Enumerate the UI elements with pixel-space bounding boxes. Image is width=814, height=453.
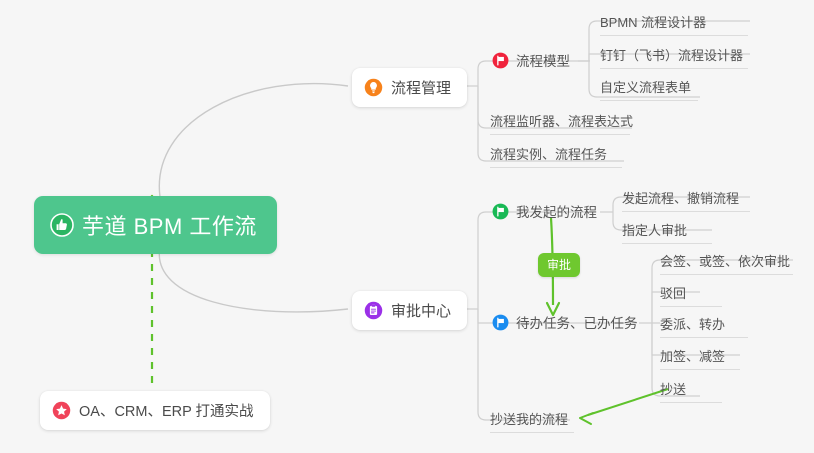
flag-blue-icon <box>492 314 509 331</box>
clipboard-icon <box>364 301 383 320</box>
leaf-process-listener[interactable]: 流程监听器、流程表达式 <box>490 111 630 135</box>
flag-red-icon <box>492 52 509 69</box>
root-node[interactable]: 芋道 BPM 工作流 <box>34 196 277 254</box>
note-label: OA、CRM、ERP 打通实战 <box>79 400 254 421</box>
leaf-add-remove-sign[interactable]: 加签、减签 <box>660 346 740 370</box>
sub-label-process-model: 流程模型 <box>516 50 570 70</box>
leaf-delegate-transfer[interactable]: 委派、转办 <box>660 314 748 338</box>
mindmap-canvas: 芋道 BPM 工作流 OA、CRM、ERP 打通实战 流程管理 <box>0 0 814 453</box>
lightbulb-icon <box>364 78 383 97</box>
star-icon <box>52 401 71 420</box>
leaf-bpmn-designer[interactable]: BPMN 流程设计器 <box>600 12 748 36</box>
approval-tag[interactable]: 审批 <box>538 253 580 277</box>
thumbs-up-icon <box>50 213 74 237</box>
leaf-process-instance[interactable]: 流程实例、流程任务 <box>490 144 622 168</box>
sub-node-my-initiated[interactable]: 我发起的流程 <box>492 201 597 221</box>
sub-label-my-initiated: 我发起的流程 <box>516 201 597 221</box>
root-label: 芋道 BPM 工作流 <box>82 209 257 241</box>
leaf-reject[interactable]: 驳回 <box>660 283 722 307</box>
leaf-start-cancel-process[interactable]: 发起流程、撤销流程 <box>622 188 750 212</box>
branch-node-process-management[interactable]: 流程管理 <box>352 68 467 107</box>
branch-label-process-management: 流程管理 <box>391 77 451 98</box>
leaf-assignee-approval[interactable]: 指定人审批 <box>622 220 712 244</box>
note-node[interactable]: OA、CRM、ERP 打通实战 <box>40 391 270 430</box>
branch-label-approval-center: 审批中心 <box>391 300 451 321</box>
leaf-countersign[interactable]: 会签、或签、依次审批 <box>660 251 793 275</box>
leaf-dingtalk-designer[interactable]: 钉钉（飞书）流程设计器 <box>600 45 748 69</box>
cc-flow-arrow <box>580 389 668 424</box>
leaf-cc-to-me[interactable]: 抄送我的流程 <box>490 409 574 433</box>
sub-label-todo-done-tasks: 待办任务、已办任务 <box>516 312 638 332</box>
sub-node-todo-done-tasks[interactable]: 待办任务、已办任务 <box>492 312 638 332</box>
branch-node-approval-center[interactable]: 审批中心 <box>352 291 467 330</box>
sub-node-process-model[interactable]: 流程模型 <box>492 50 570 70</box>
leaf-custom-form[interactable]: 自定义流程表单 <box>600 77 698 101</box>
flag-green-icon <box>492 203 509 220</box>
leaf-cc[interactable]: 抄送 <box>660 379 722 403</box>
